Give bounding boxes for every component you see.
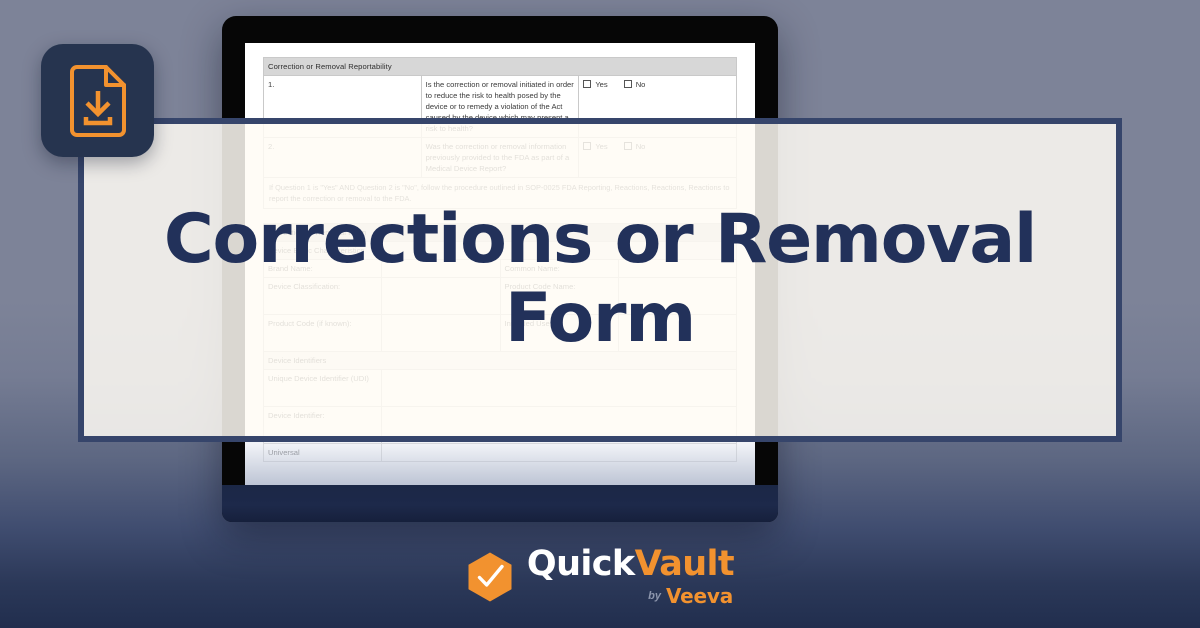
quickvault-logo[interactable]: QuickVault by Veeva xyxy=(0,547,1200,606)
veeva-wordmark: Veeva xyxy=(666,586,733,606)
by-label: by xyxy=(648,591,661,602)
by-veeva-byline: by Veeva xyxy=(648,586,733,606)
answer-label-yes: Yes xyxy=(595,80,607,89)
field-value[interactable] xyxy=(382,444,737,462)
quickvault-wordmark-group: QuickVault by Veeva xyxy=(527,547,734,606)
wordmark-vault: Vault xyxy=(635,544,734,584)
page-title-line-1: Corrections or Removal xyxy=(164,200,1036,279)
download-badge[interactable] xyxy=(41,44,154,157)
promo-banner: Correction or Removal Reportability 1. I… xyxy=(0,0,1200,628)
checkbox-yes[interactable] xyxy=(583,80,591,88)
table-section-header-row: Correction or Removal Reportability xyxy=(264,58,737,76)
document-download-icon xyxy=(66,65,130,137)
table-row: Universal xyxy=(264,444,737,462)
quickvault-hexagon-check-icon xyxy=(466,551,514,603)
device-bottom-bezel xyxy=(222,485,778,522)
page-title-line-2: Form xyxy=(505,279,695,358)
checkbox-no[interactable] xyxy=(624,80,632,88)
title-overlay-panel: Corrections or Removal Form xyxy=(78,118,1122,442)
answer-label-no: No xyxy=(636,80,646,89)
field-label: Universal xyxy=(264,444,382,462)
page-title: Corrections or Removal Form xyxy=(164,201,1036,359)
wordmark-quick: Quick xyxy=(527,544,635,584)
quickvault-wordmark: QuickVault xyxy=(527,547,734,582)
section-title-reportability: Correction or Removal Reportability xyxy=(264,58,737,76)
